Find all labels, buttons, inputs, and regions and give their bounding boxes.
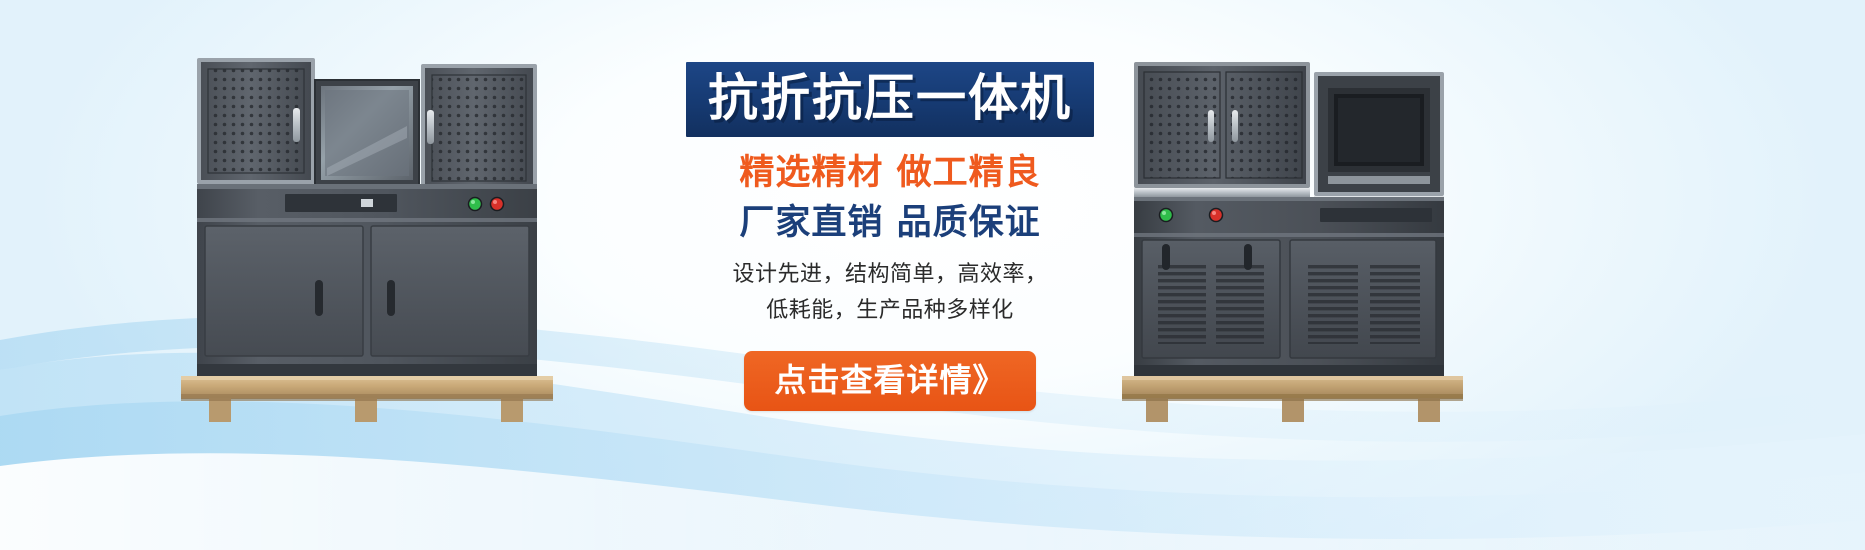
page-title: 抗折抗压一体机 (708, 71, 1072, 125)
view-details-label: 点击查看详情》 (774, 362, 1005, 398)
banner-copy: 抗折抗压一体机 精选精材 做工精良 厂家直销 品质保证 设计先进，结构简单，高效… (620, 62, 1160, 482)
headline-orange: 精选精材 做工精良 (620, 149, 1160, 197)
description-line-2: 低耗能，生产品种多样化 (620, 293, 1160, 329)
view-details-button[interactable]: 点击查看详情》 (744, 351, 1035, 411)
product-image-right (1120, 48, 1465, 423)
product-image-left (175, 48, 575, 423)
banner-title-bar: 抗折抗压一体机 (686, 62, 1094, 137)
headline-blue: 厂家直销 品质保证 (620, 199, 1160, 247)
description-line-1: 设计先进，结构简单，高效率， (620, 257, 1160, 293)
promo-banner: 抗折抗压一体机 精选精材 做工精良 厂家直销 品质保证 设计先进，结构简单，高效… (0, 0, 1865, 550)
